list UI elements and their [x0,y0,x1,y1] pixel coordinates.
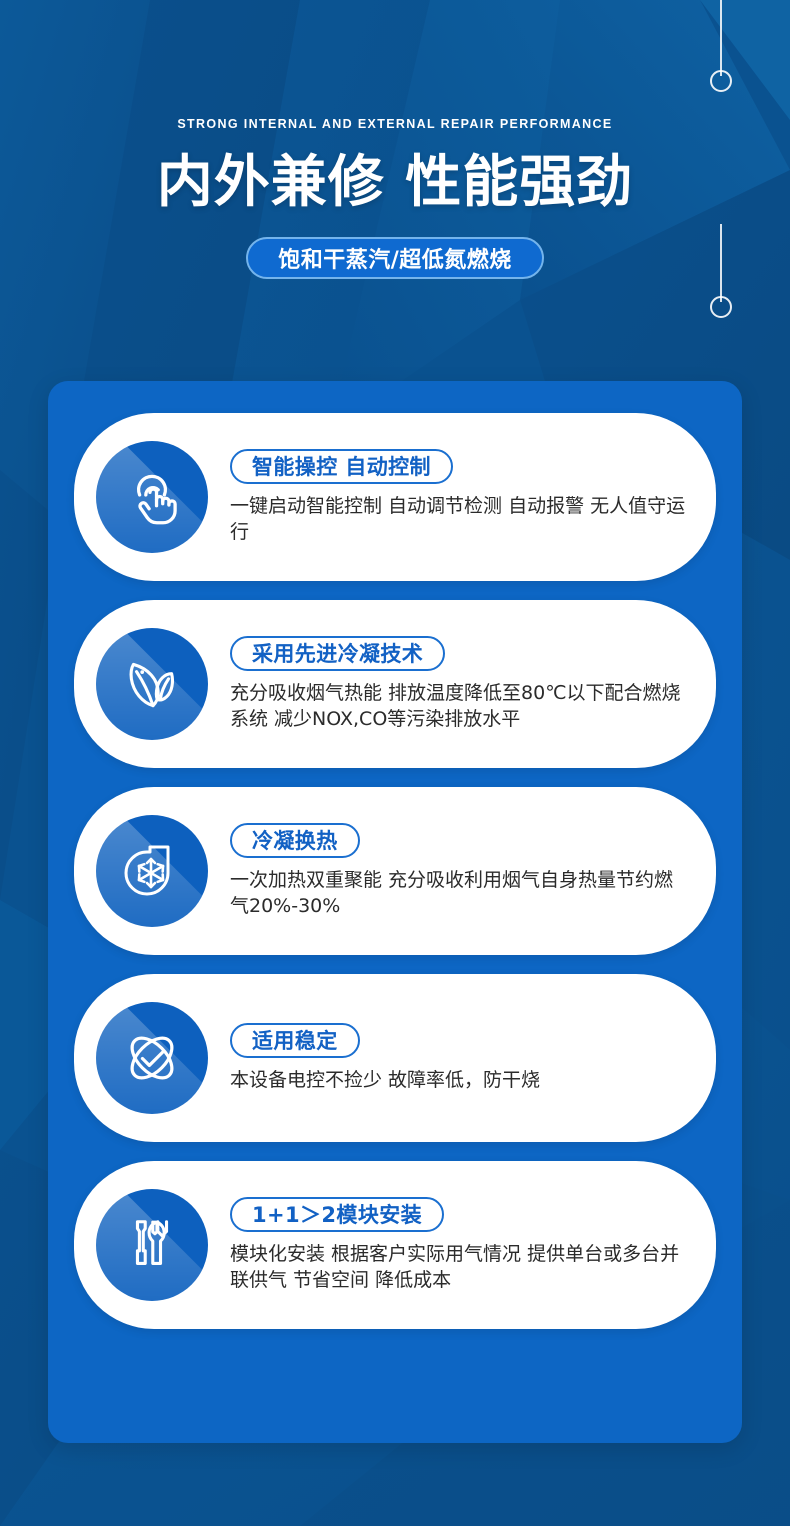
card-description: 模块化安装 根据客户实际用气情况 提供单台或多台并联供气 节省空间 降低成本 [230,1241,686,1293]
feature-card[interactable]: 适用稳定 本设备电控不捡少 故障率低，防干烧 [74,974,716,1142]
card-description: 一次加热双重聚能 充分吸收利用烟气自身热量节约燃气20%-30% [230,867,686,919]
card-description: 充分吸收烟气热能 排放温度降低至80℃以下配合燃烧系统 减少NOX,CO等污染排… [230,680,686,732]
feature-card[interactable]: 冷凝换热 一次加热双重聚能 充分吸收利用烟气自身热量节约燃气20%-30% [74,787,716,955]
card-body: 采用先进冷凝技术 充分吸收烟气热能 排放温度降低至80℃以下配合燃烧系统 减少N… [208,636,690,732]
leaf-icon [96,628,208,740]
card-body: 智能操控 自动控制 一键启动智能控制 自动调节检测 自动报警 无人值守运行 [208,449,690,545]
card-title-pill: 采用先进冷凝技术 [230,636,445,671]
card-body: 1+1＞2模块安装 模块化安装 根据客户实际用气情况 提供单台或多台并联供气 节… [208,1197,690,1293]
header-eyebrow: STRONG INTERNAL AND EXTERNAL REPAIR PERF… [0,118,790,131]
card-body: 冷凝换热 一次加热双重聚能 充分吸收利用烟气自身热量节约燃气20%-30% [208,823,690,919]
feature-card-list: 智能操控 自动控制 一键启动智能控制 自动调节检测 自动报警 无人值守运行 [74,413,716,1329]
card-title-pill: 1+1＞2模块安装 [230,1197,444,1232]
card-title-pill: 智能操控 自动控制 [230,449,453,484]
atom-check-icon [96,1002,208,1114]
page-title: 内外兼修 性能强劲 [0,153,790,213]
header: STRONG INTERNAL AND EXTERNAL REPAIR PERF… [0,0,790,279]
card-description: 一键启动智能控制 自动调节检测 自动报警 无人值守运行 [230,493,686,545]
feature-card[interactable]: 1+1＞2模块安装 模块化安装 根据客户实际用气情况 提供单台或多台并联供气 节… [74,1161,716,1329]
touch-control-icon [96,441,208,553]
feature-card[interactable]: 采用先进冷凝技术 充分吸收烟气热能 排放温度降低至80℃以下配合燃烧系统 减少N… [74,600,716,768]
tools-icon [96,1189,208,1301]
card-description: 本设备电控不捡少 故障率低，防干烧 [230,1067,686,1093]
card-body: 适用稳定 本设备电控不捡少 故障率低，防干烧 [208,1023,690,1093]
decor-circle-bottom [710,296,732,318]
card-title-pill: 适用稳定 [230,1023,360,1058]
feature-panel: 智能操控 自动控制 一键启动智能控制 自动调节检测 自动报警 无人值守运行 [48,381,742,1443]
feature-card[interactable]: 智能操控 自动控制 一键启动智能控制 自动调节检测 自动报警 无人值守运行 [74,413,716,581]
header-subtitle-pill: 饱和干蒸汽/超低氮燃烧 [246,237,544,279]
snowflake-condenser-icon [96,815,208,927]
card-title-pill: 冷凝换热 [230,823,360,858]
promo-page: STRONG INTERNAL AND EXTERNAL REPAIR PERF… [0,0,790,1526]
